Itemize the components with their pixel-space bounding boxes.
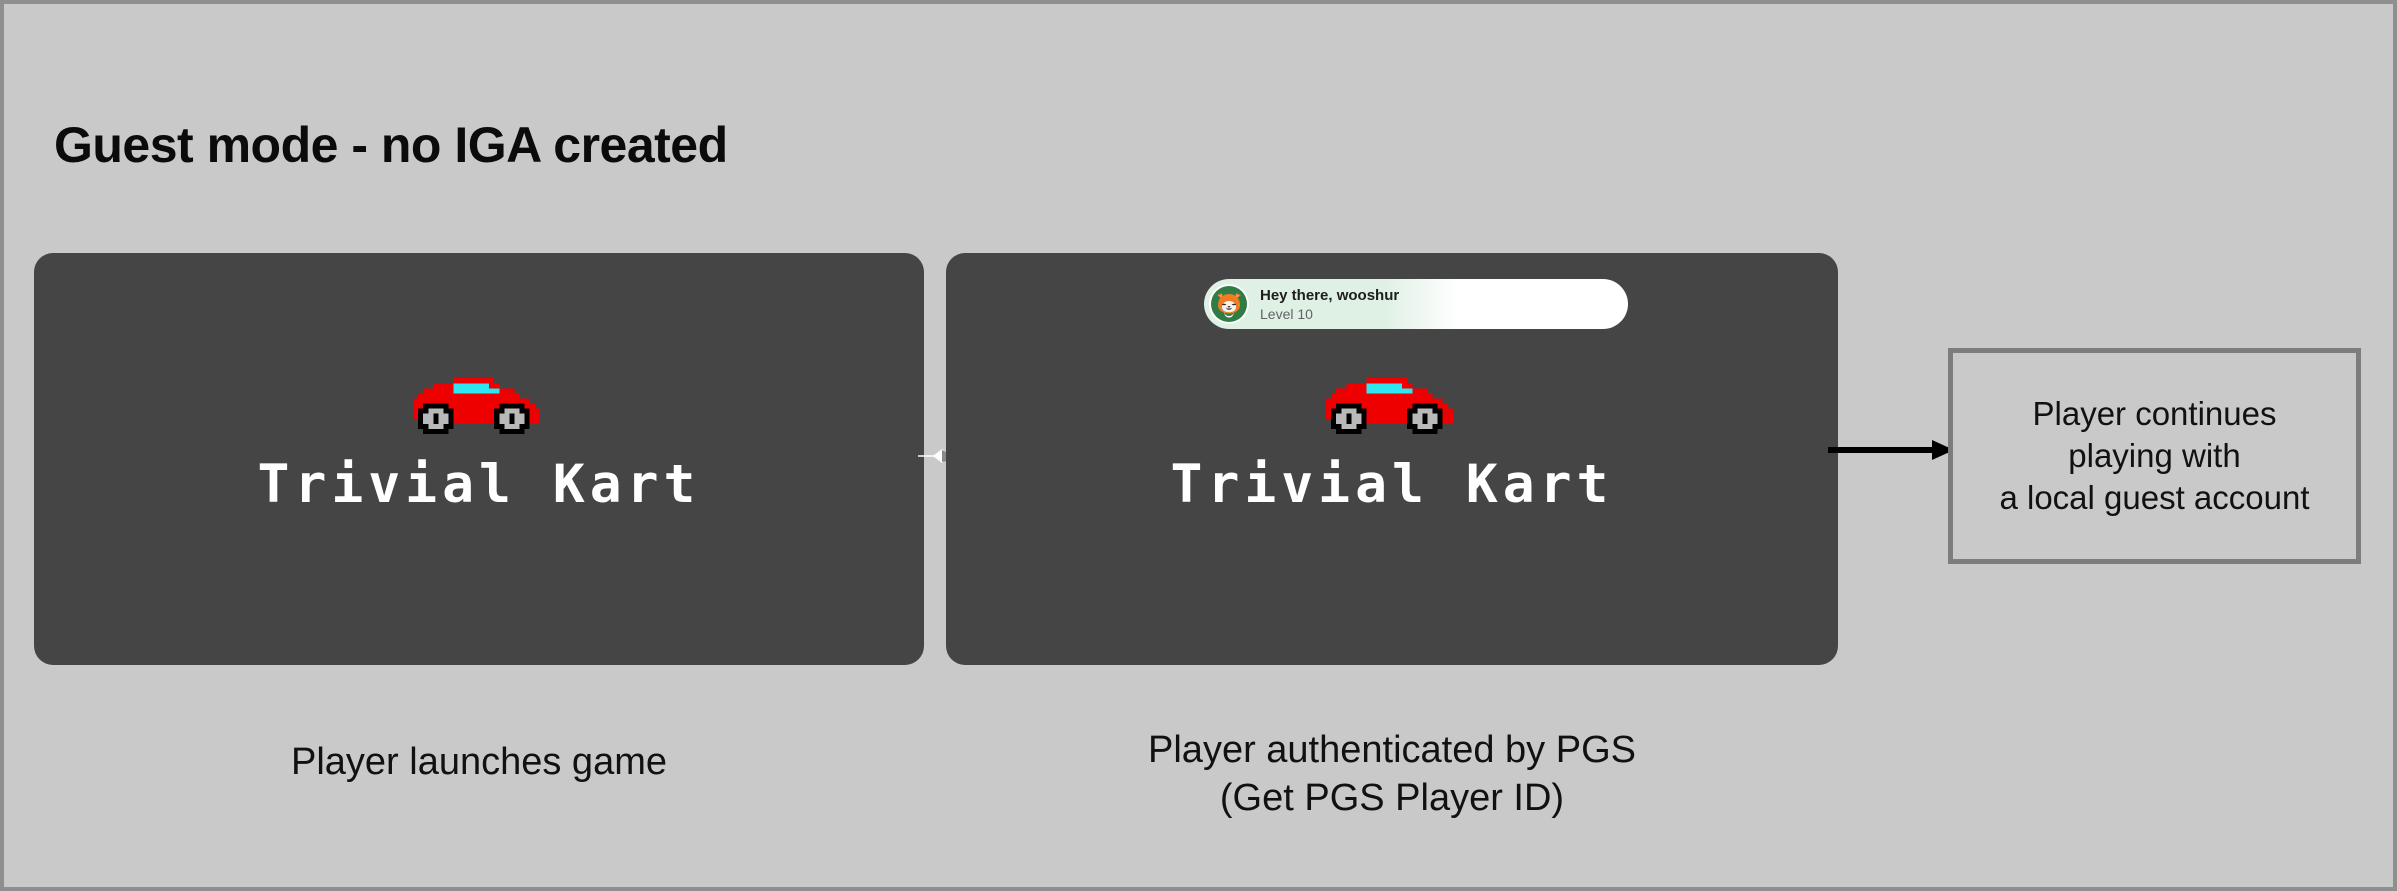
callout-line-2: playing with bbox=[1999, 435, 2309, 477]
right-arrow-icon bbox=[1828, 434, 1958, 466]
panel-2-inner: Hey there, wooshur Level 10 bbox=[946, 253, 1838, 665]
panel-2-caption: Player authenticated by PGS (Get PGS Pla… bbox=[946, 727, 1838, 822]
game-screenshot-panel-2: Hey there, wooshur Level 10 bbox=[946, 253, 1838, 665]
greeting-name: Hey there, wooshur bbox=[1260, 288, 1399, 303]
pixel-car-icon bbox=[408, 363, 550, 434]
panel-2-caption-line-1: Player authenticated by PGS bbox=[946, 727, 1838, 775]
game-screenshot-panel-1: Trivial Kart bbox=[34, 253, 924, 665]
pgs-greeting-banner[interactable]: Hey there, wooshur Level 10 bbox=[1204, 279, 1628, 329]
greeting-level: Level 10 bbox=[1260, 307, 1399, 321]
game-logo-2: Trivial Kart bbox=[946, 363, 1838, 515]
panel-2-caption-line-2: (Get PGS Player ID) bbox=[946, 775, 1838, 823]
callout-text: Player continues playing with a local gu… bbox=[1999, 393, 2309, 519]
diagram-canvas: Guest mode - no IGA created bbox=[0, 0, 2397, 891]
greeting-text-block: Hey there, wooshur Level 10 bbox=[1260, 288, 1399, 321]
game-title-2: Trivial Kart bbox=[1171, 454, 1614, 515]
pixel-car-icon bbox=[1321, 363, 1463, 434]
game-title-1: Trivial Kart bbox=[258, 454, 701, 515]
panel-1-caption: Player launches game bbox=[34, 739, 924, 787]
page-title: Guest mode - no IGA created bbox=[54, 116, 728, 174]
panel-1-inner: Trivial Kart bbox=[34, 253, 924, 665]
callout-box: Player continues playing with a local gu… bbox=[1948, 348, 2361, 564]
callout-line-3: a local guest account bbox=[1999, 477, 2309, 519]
game-logo-1: Trivial Kart bbox=[34, 363, 924, 515]
callout-line-1: Player continues bbox=[1999, 393, 2309, 435]
fox-avatar-icon bbox=[1209, 284, 1249, 324]
